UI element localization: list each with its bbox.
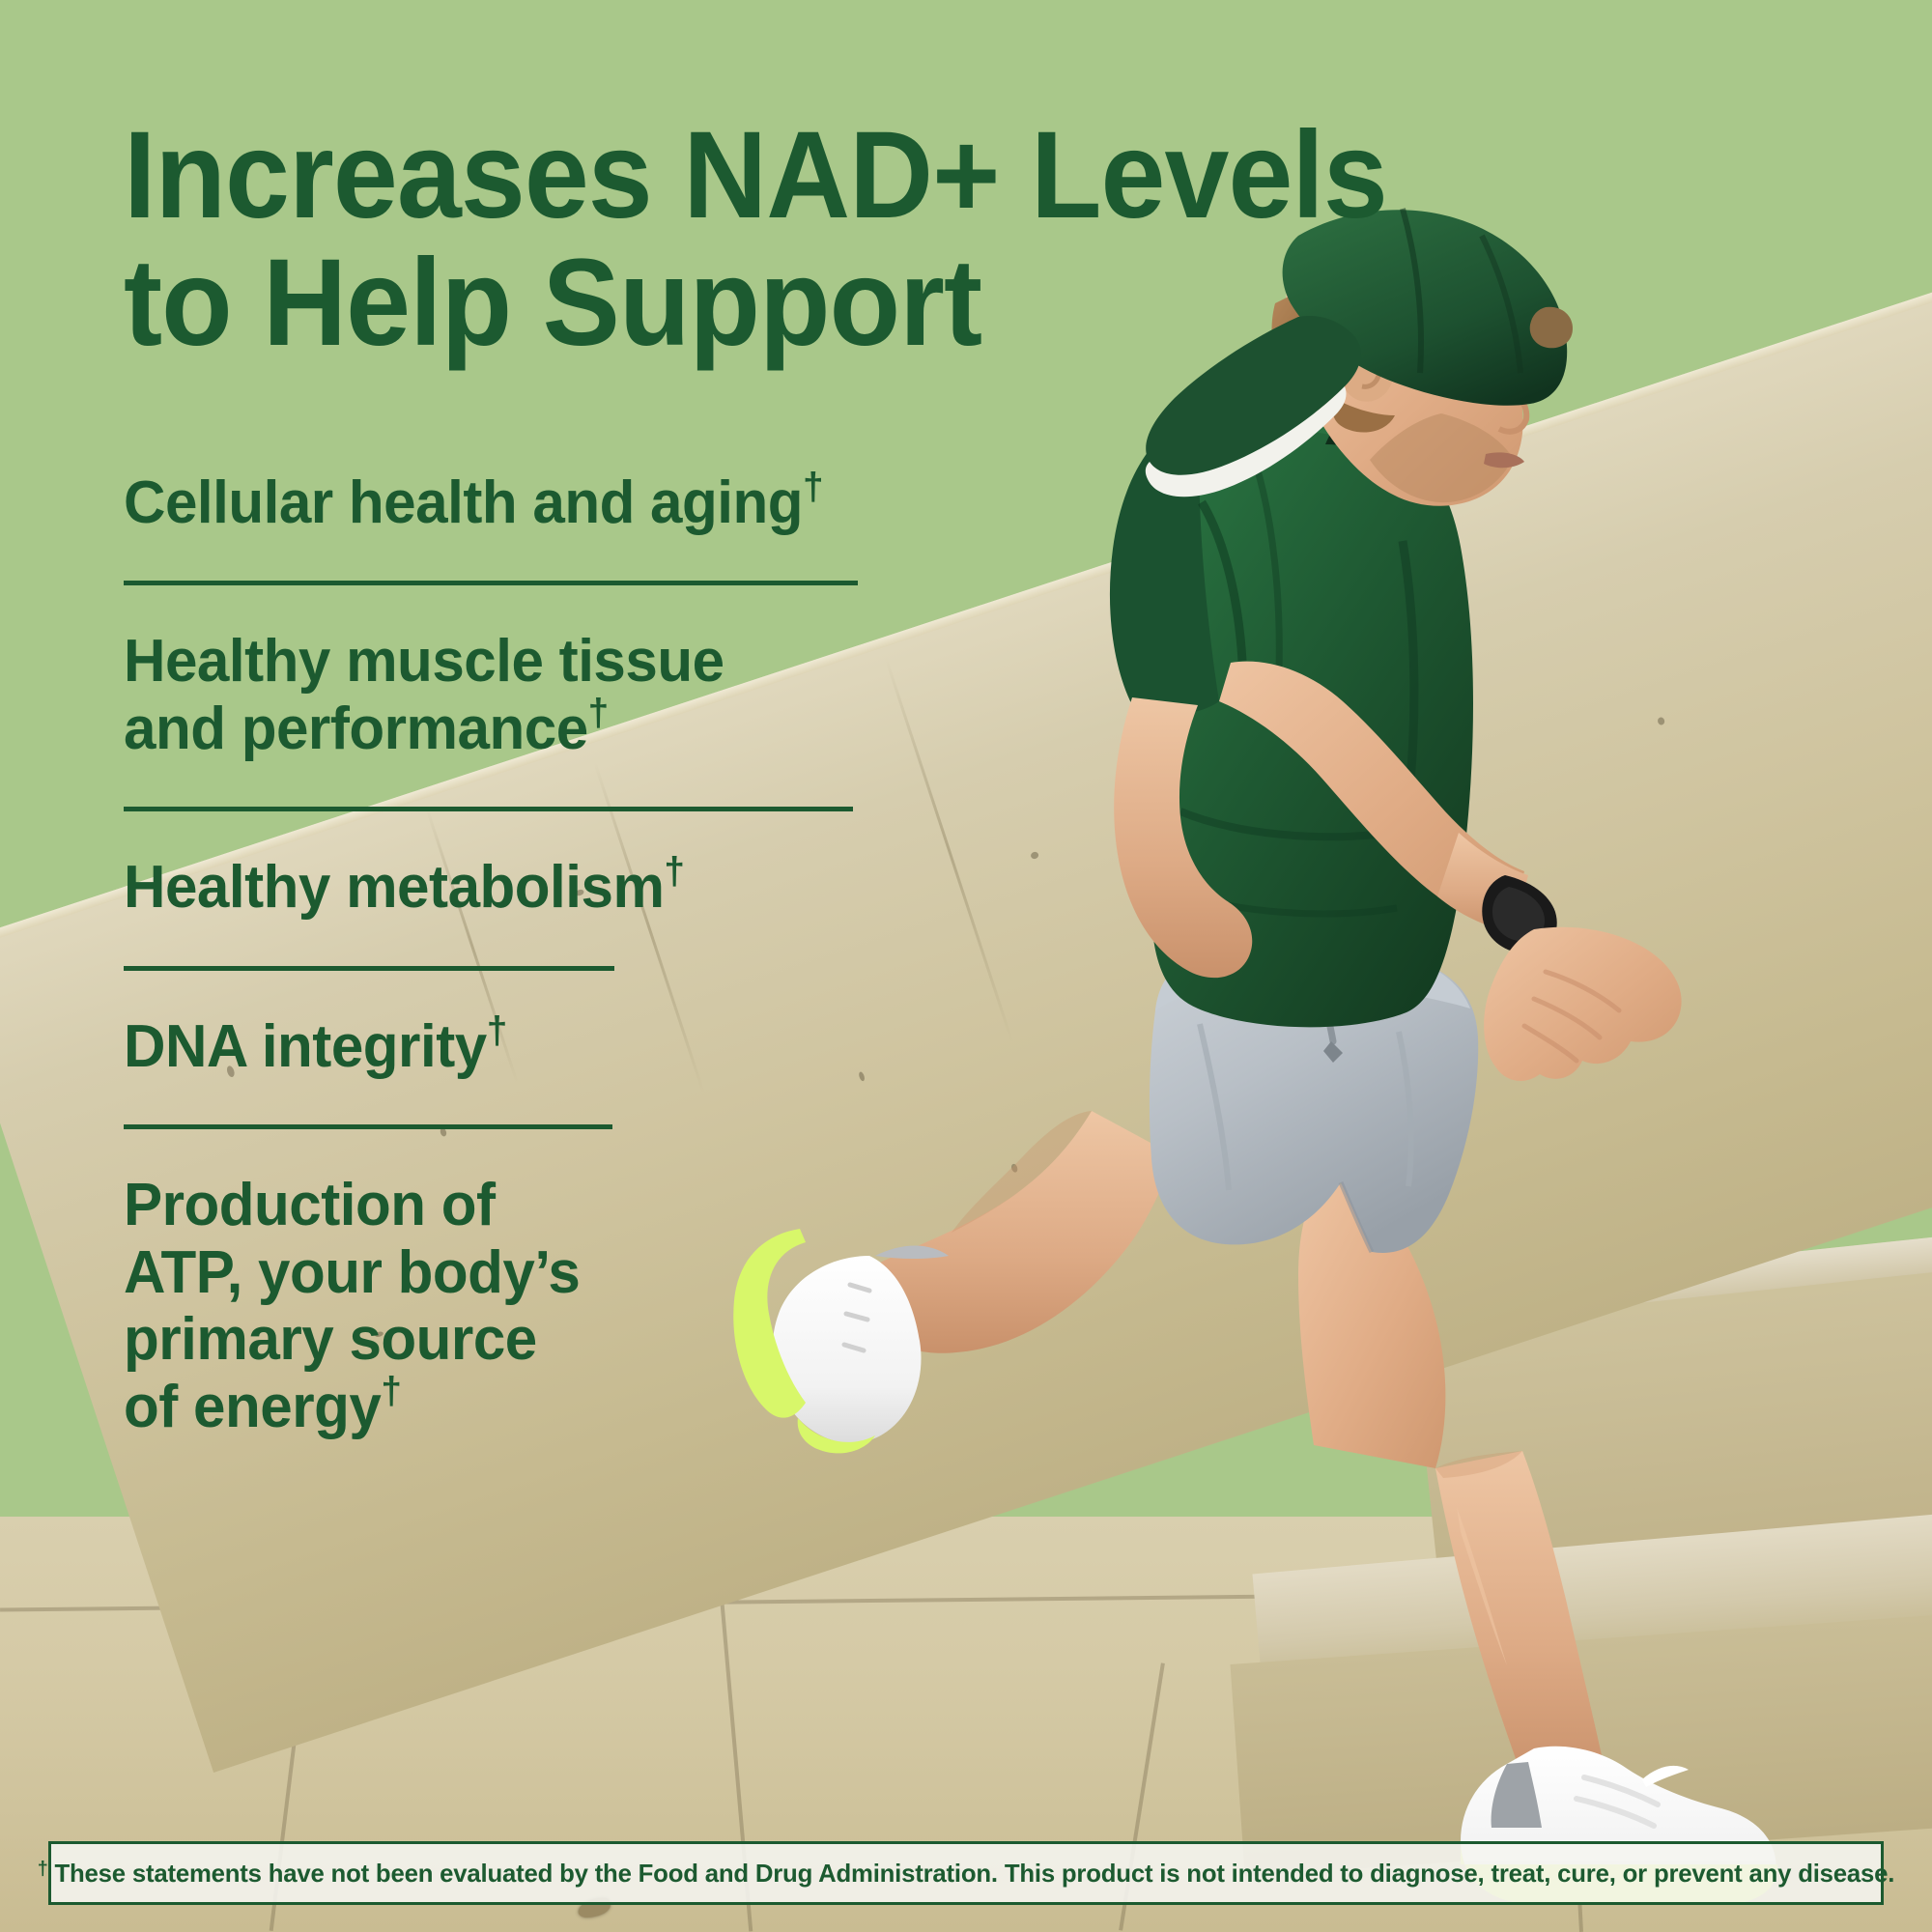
- benefit-label: Healthy metabolism†: [124, 854, 1061, 921]
- benefit-item-cellular-health: Cellular health and aging†: [124, 469, 1090, 536]
- spacer: [124, 922, 1090, 966]
- benefit-label: DNA integrity†: [124, 1013, 1061, 1080]
- spacer: [124, 536, 1090, 581]
- spacer: [124, 971, 1090, 1013]
- benefit-text: Cellular health and aging: [124, 469, 803, 536]
- fda-disclaimer-box: † These statements have not been evaluat…: [48, 1841, 1884, 1905]
- spacer: [124, 585, 1090, 628]
- spacer: [124, 1129, 1090, 1172]
- benefit-item-atp-production: Production of ATP, your body’s primary s…: [124, 1172, 1090, 1440]
- page-title: Increases NAD+ Levels to Help Support: [124, 112, 1577, 367]
- dagger-icon: †: [381, 1370, 401, 1412]
- promotional-poster: Increases NAD+ Levels to Help Support Ce…: [0, 0, 1932, 1932]
- dagger-icon: †: [487, 1009, 507, 1052]
- text-content: Increases NAD+ Levels to Help Support Ce…: [0, 0, 1932, 1932]
- benefit-text: Production of ATP, your body’s primary s…: [124, 1172, 580, 1439]
- dagger-icon: †: [664, 850, 684, 893]
- dagger-icon: †: [803, 466, 823, 508]
- benefit-item-metabolism: Healthy metabolism†: [124, 854, 1090, 921]
- disclaimer-body: These statements have not been evaluated…: [55, 1859, 1895, 1888]
- spacer: [124, 1080, 1090, 1124]
- benefit-item-muscle-tissue: Healthy muscle tissue and performance†: [124, 628, 1090, 762]
- benefit-text: DNA integrity: [124, 1013, 487, 1080]
- benefit-label: Cellular health and aging†: [124, 469, 1061, 536]
- disclaimer-label: † These statements have not been evaluat…: [38, 1859, 1895, 1889]
- spacer: [124, 762, 1090, 807]
- benefit-item-dna-integrity: DNA integrity†: [124, 1013, 1090, 1080]
- benefit-text: Healthy muscle tissue and performance: [124, 628, 724, 761]
- benefits-list: Cellular health and aging† Healthy muscl…: [124, 469, 1090, 1440]
- benefit-label: Healthy muscle tissue and performance†: [124, 628, 1061, 762]
- benefit-label: Production of ATP, your body’s primary s…: [124, 1172, 1061, 1440]
- dagger-icon: †: [588, 692, 609, 734]
- dagger-icon: †: [38, 1859, 48, 1880]
- benefit-text: Healthy metabolism: [124, 854, 664, 921]
- spacer: [124, 811, 1090, 854]
